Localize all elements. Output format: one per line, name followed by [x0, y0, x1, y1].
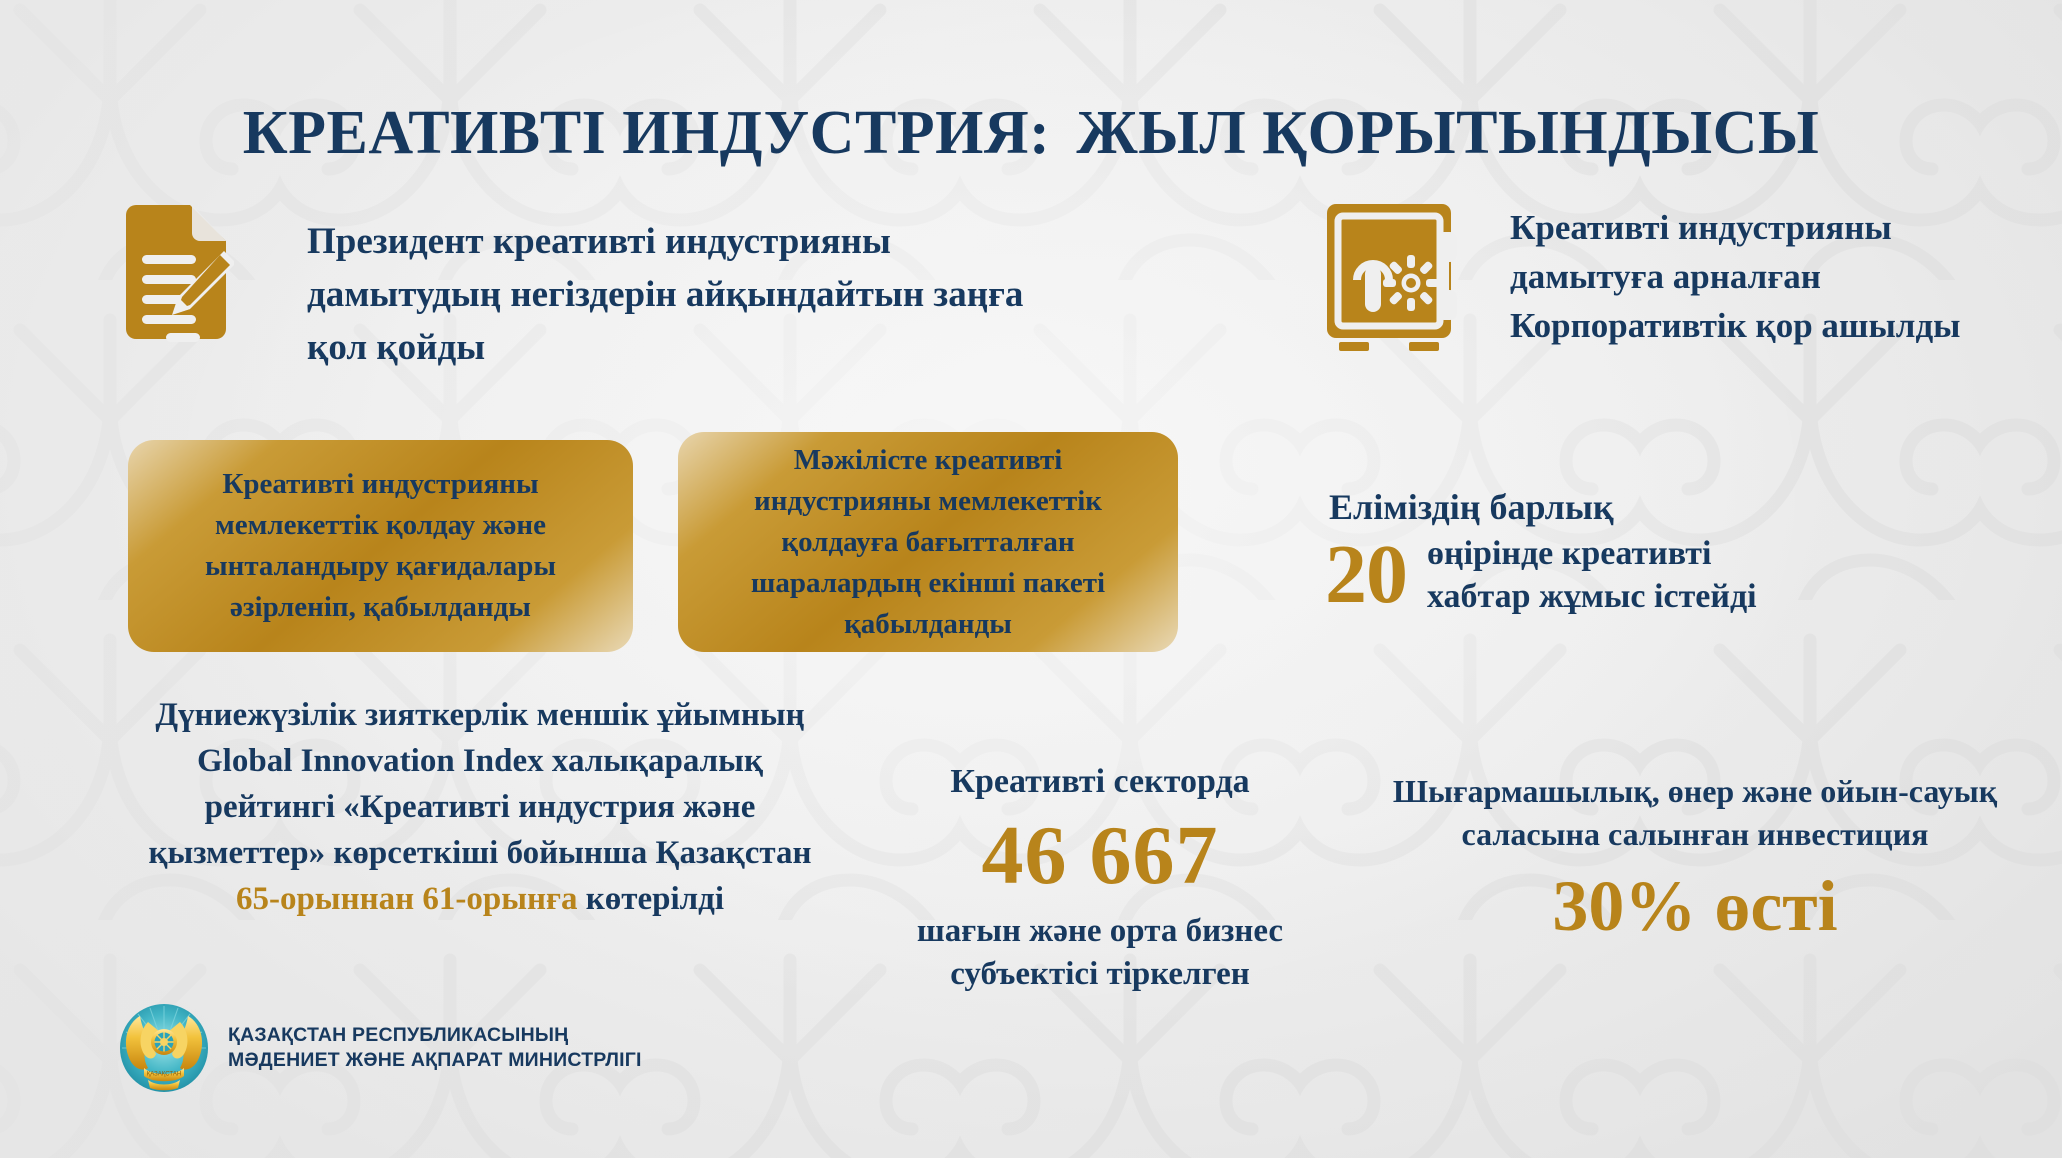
global-innovation-index-stat: Дүниежүзілік зияткерлік меншік ұйымның G…: [140, 692, 820, 922]
creative-hubs-rest-line2: хабтар жұмыс істейді: [1427, 575, 1757, 618]
state-support-rules-text: Креативті индустрияны мемлекеттік қолдау…: [152, 464, 609, 628]
creative-hubs-number: 20: [1325, 531, 1407, 619]
majilis-second-package-text: Мәжілісте креативті индустрияны мемлекет…: [702, 440, 1154, 645]
creative-hubs-stat: Еліміздің барлық 20 өңірінде креативті х…: [1325, 485, 2005, 619]
investment-top-label: Шығармашылық, өнер және ойын-сауық салас…: [1360, 770, 2030, 856]
sme-bottom-label: шағын және орта бизнес субъектісі тіркел…: [880, 910, 1320, 996]
gii-text-after: көтерілді: [577, 881, 724, 917]
sme-top-label: Креативті секторда: [880, 760, 1320, 804]
creative-hubs-line1: Еліміздің барлық: [1329, 485, 2005, 529]
ministry-line1: ҚАЗАҚСТАН РЕСПУБЛИКАСЫНЫҢ: [228, 1023, 642, 1048]
state-support-rules-box: Креативті индустрияны мемлекеттік қолдау…: [128, 440, 633, 652]
investment-growth-value: 30% өсті: [1360, 862, 2030, 950]
svg-text:ҚАЗАҚСТАН: ҚАЗАҚСТАН: [147, 1072, 182, 1078]
page-title-part1: КРЕАТИВТІ ИНДУСТРИЯ:: [243, 99, 1051, 167]
sme-number: 46 667: [880, 806, 1320, 906]
gii-text-before: Дүниежүзілік зияткерлік меншік ұйымның G…: [148, 697, 811, 871]
majilis-second-package-box: Мәжілісте креативті индустрияны мемлекет…: [678, 432, 1178, 652]
ministry-line2: МӘДЕНИЕТ ЖӘНЕ АҚПАРАТ МИНИСТРЛІГІ: [228, 1048, 642, 1073]
corporate-fund-text: Креативті индустрияны дамытуға арналған …: [1510, 203, 2010, 350]
kazakhstan-state-emblem-icon: ҚАЗАҚСТАН: [118, 1002, 210, 1094]
ministry-footer: ҚАЗАҚСТАН ҚАЗАҚСТАН РЕСПУБЛИКАСЫНЫҢ МӘДЕ…: [118, 1002, 642, 1094]
president-law-text: Президент креативті индустрияны дамытуды…: [307, 215, 1037, 374]
sme-registered-stat: Креативті секторда 46 667 шағын және орт…: [880, 760, 1320, 996]
infographic-poster: КРЕАТИВТІ ИНДУСТРИЯ:ЖЫЛ ҚОРЫТЫНДЫСЫ: [0, 0, 2062, 1158]
creative-hubs-rest-line1: өңірінде креативті: [1427, 532, 1757, 575]
gii-rank-highlight: 65-орыннан 61-орынға: [236, 881, 578, 917]
safe-vault-icon: [1325, 202, 1469, 354]
page-title: КРЕАТИВТІ ИНДУСТРИЯ:ЖЫЛ ҚОРЫТЫНДЫСЫ: [0, 98, 2062, 169]
page-title-part2: ЖЫЛ ҚОРЫТЫНДЫСЫ: [1076, 99, 1819, 167]
document-pencil-icon: [118, 203, 234, 351]
investment-growth-stat: Шығармашылық, өнер және ойын-сауық салас…: [1360, 770, 2030, 950]
